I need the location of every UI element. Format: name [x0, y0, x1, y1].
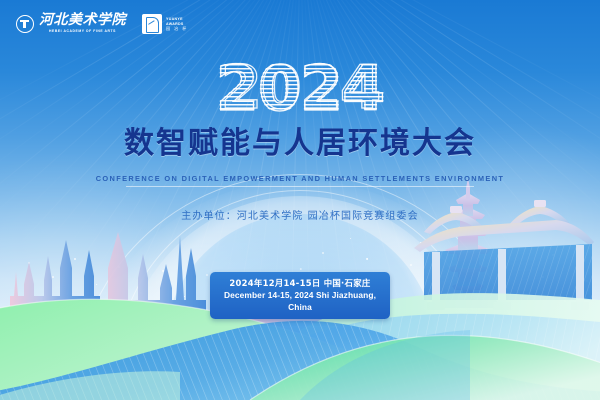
logo-hebei-academy-cn: 河北美术学院 [39, 14, 126, 28]
year-number-text: 2024 [221, 53, 380, 123]
organizer-line: 主办单位：河北美术学院 园冶杯国际竞赛组委会 [0, 207, 600, 222]
date-location-badge: 2024年12月14-15日 中国·石家庄 December 14-15, 20… [210, 272, 390, 319]
logo-yuanye-en-line1: YUANYE [166, 17, 188, 21]
right-glow [370, 120, 600, 400]
date-location-en: December 14-15, 2024 Shi Jiazhuang, Chin… [220, 289, 380, 313]
logo-hebei-academy-en: HEBEI ACADEMY OF FINE ARTS [49, 30, 116, 33]
left-glow [0, 150, 200, 400]
page-title: 数智赋能与人居环境大会 [0, 126, 600, 162]
year-number: 2024 [221, 58, 380, 118]
academy-emblem-icon [16, 15, 34, 33]
yuanye-mark-icon [142, 14, 162, 34]
logo-bar: 河北美术学院 HEBEI ACADEMY OF FINE ARTS YUANYE… [16, 14, 188, 34]
page-subtitle: CONFERENCE ON DIGITAL EMPOWERMENT AND HU… [0, 174, 600, 183]
logo-yuanye-awards[interactable]: YUANYE AWARDS 园 冶 杯 [142, 14, 188, 34]
title-divider [126, 186, 474, 187]
date-location-cn: 2024年12月14-15日 中国·石家庄 [220, 277, 380, 289]
year-graphic: 2024 [0, 58, 600, 120]
logo-yuanye-cn: 园 冶 杯 [166, 27, 188, 31]
logo-hebei-academy[interactable]: 河北美术学院 HEBEI ACADEMY OF FINE ARTS [16, 14, 126, 33]
conference-poster: 河北美术学院 HEBEI ACADEMY OF FINE ARTS YUANYE… [0, 0, 600, 400]
pagoda-silhouette [434, 178, 502, 308]
